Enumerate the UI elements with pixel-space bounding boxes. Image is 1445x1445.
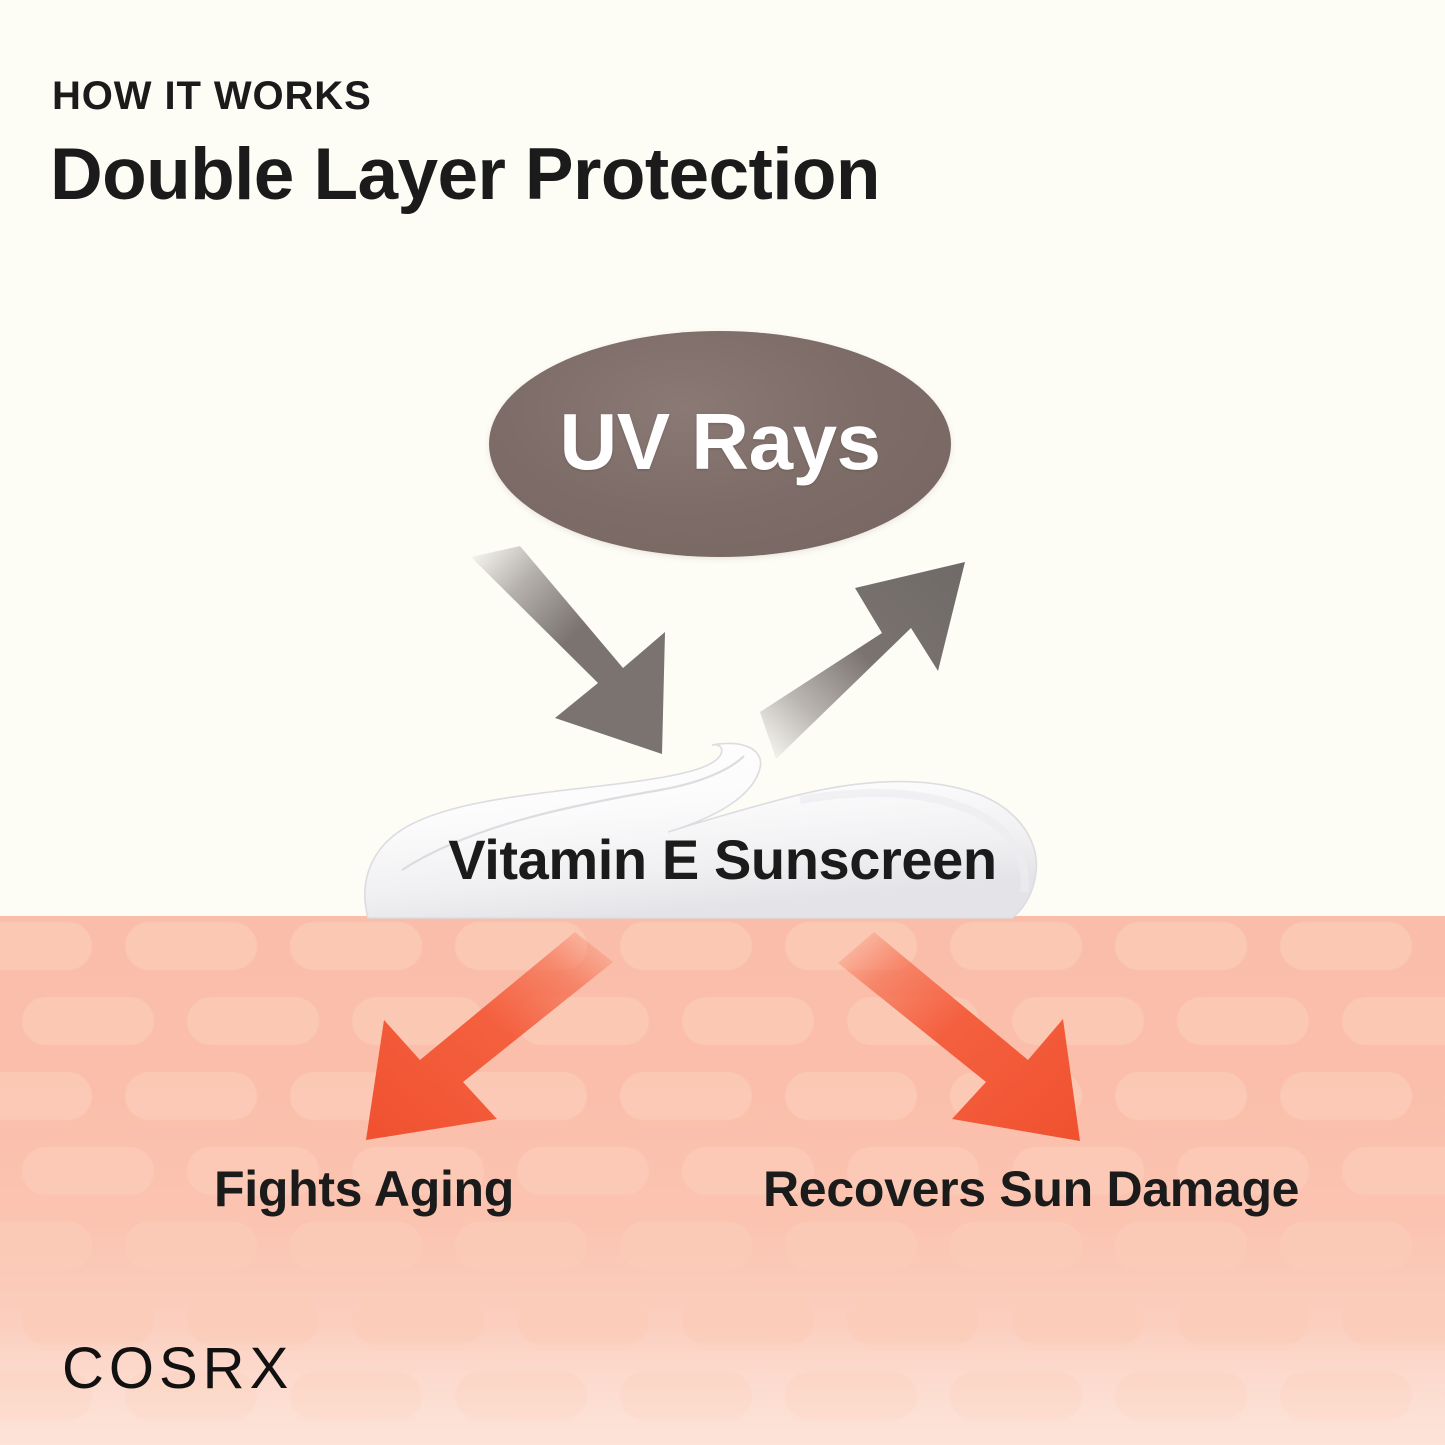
- skin-cell: [0, 1222, 92, 1270]
- eyebrow-label: HOW IT WORKS: [52, 76, 372, 116]
- skin-cell: [620, 1222, 752, 1270]
- skin-cell: [0, 1072, 92, 1120]
- skin-cell: [290, 1222, 422, 1270]
- page-title: Double Layer Protection: [50, 136, 880, 215]
- skin-cell: [0, 922, 92, 970]
- skin-cell: [1177, 997, 1309, 1045]
- uv-rays-badge: UV Rays: [489, 331, 951, 557]
- skin-cell: [455, 1222, 587, 1270]
- skin-cell: [785, 1222, 917, 1270]
- infographic-canvas: HOW IT WORKS Double Layer Protection UV …: [0, 0, 1445, 1445]
- sunscreen-label: Vitamin E Sunscreen: [0, 832, 1445, 888]
- skin-cell: [620, 1072, 752, 1120]
- brand-logo-cosrx: COSRX: [62, 1340, 293, 1398]
- skin-cell: [22, 1147, 154, 1195]
- skin-cell: [1342, 1147, 1445, 1195]
- benefit-label-recovers-sun-damage: Recovers Sun Damage: [763, 1164, 1299, 1214]
- skin-cell: [125, 922, 257, 970]
- skin-cell: [1115, 1222, 1247, 1270]
- skin-cell: [785, 1072, 917, 1120]
- skin-cell: [187, 997, 319, 1045]
- skin-cell: [1280, 1222, 1412, 1270]
- skin-cell: [1012, 997, 1144, 1045]
- skin-cell: [950, 1222, 1082, 1270]
- skin-cell: [620, 922, 752, 970]
- skin-cell: [22, 997, 154, 1045]
- skin-cell: [1280, 922, 1412, 970]
- skin-cell: [290, 1072, 422, 1120]
- skin-cell: [950, 922, 1082, 970]
- skin-cell: [950, 1072, 1082, 1120]
- skin-cell: [125, 1222, 257, 1270]
- skin-cell: [785, 922, 917, 970]
- skin-cell: [1342, 997, 1445, 1045]
- uv-rays-label: UV Rays: [559, 402, 880, 482]
- skin-cell: [847, 997, 979, 1045]
- benefit-label-fights-aging: Fights Aging: [214, 1164, 514, 1214]
- skin-cell: [1115, 922, 1247, 970]
- skin-cell: [517, 997, 649, 1045]
- skin-cell: [352, 997, 484, 1045]
- skin-cell: [682, 997, 814, 1045]
- skin-cell: [455, 1072, 587, 1120]
- skin-cell: [125, 1072, 257, 1120]
- skin-cell: [517, 1147, 649, 1195]
- skin-cell: [455, 922, 587, 970]
- skin-cell: [1280, 1072, 1412, 1120]
- skin-cell: [1115, 1072, 1247, 1120]
- skin-cell: [290, 922, 422, 970]
